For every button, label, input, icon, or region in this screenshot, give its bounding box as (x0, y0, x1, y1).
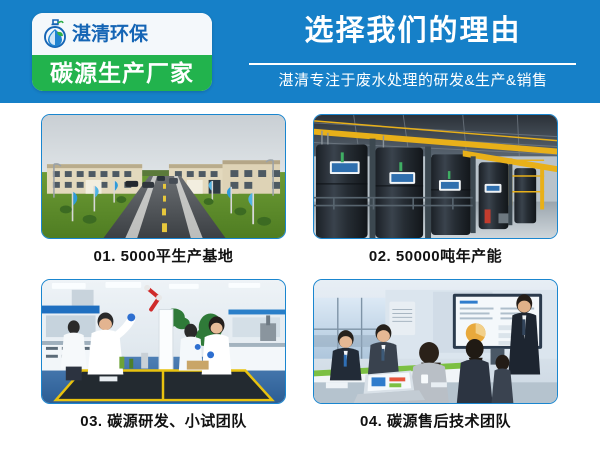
industrial-tanks-workshop-photo (313, 114, 558, 239)
laboratory-research-team-photo (41, 279, 286, 404)
conference-room-meeting-photo (313, 279, 558, 404)
brand-logo: 湛清环保 碳源生产厂家 (32, 13, 212, 91)
factory-campus-aerial-photo (41, 114, 286, 239)
page-header: 湛清环保 碳源生产厂家 选择我们的理由 湛清专注于废水处理的研发&生产&销售 (0, 0, 600, 103)
feature-card[interactable]: 02. 50000吨年产能 (313, 114, 558, 266)
card-caption: 03. 碳源研发、小试团队 (41, 413, 286, 431)
page-subtitle: 湛清专注于废水处理的研发&生产&销售 (248, 70, 578, 91)
feature-card[interactable]: 04. 碳源售后技术团队 (313, 279, 558, 431)
card-caption: 01. 5000平生产基地 (41, 248, 286, 266)
logo-company-name: 湛清环保 (72, 25, 148, 44)
feature-card-grid: 01. 5000平生产基地 (0, 103, 600, 450)
logo-lower-band: 碳源生产厂家 (32, 55, 212, 91)
logo-upper-band: 湛清环保 (32, 13, 212, 55)
flask-leaf-droplet-icon (40, 18, 70, 50)
feature-card[interactable]: 01. 5000平生产基地 (41, 114, 286, 266)
card-caption: 02. 50000吨年产能 (313, 248, 558, 266)
logo-tagline: 碳源生产厂家 (50, 62, 194, 85)
feature-card[interactable]: 03. 碳源研发、小试团队 (41, 279, 286, 431)
title-divider (249, 63, 576, 65)
page-title: 选择我们的理由 (248, 14, 578, 49)
card-caption: 04. 碳源售后技术团队 (313, 413, 558, 431)
